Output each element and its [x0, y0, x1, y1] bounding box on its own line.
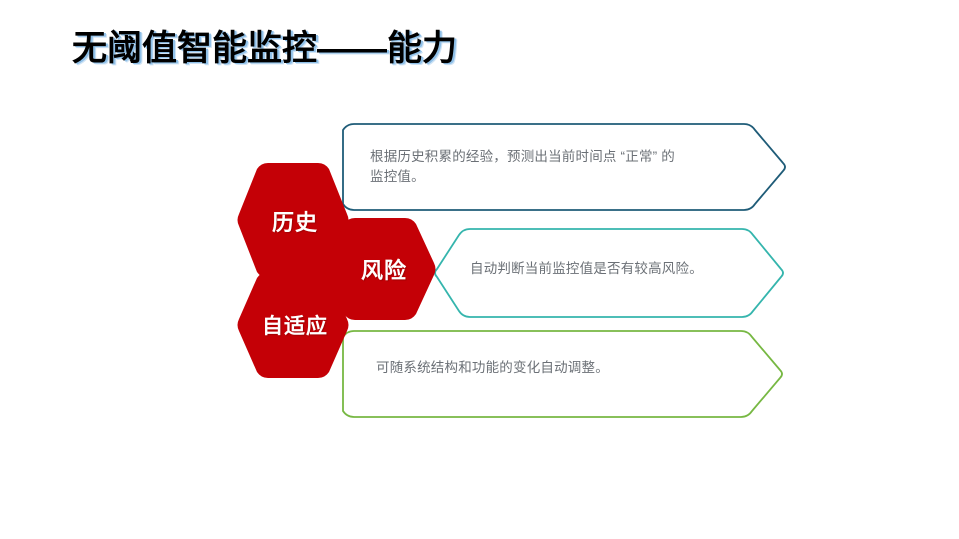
callout-risk[interactable]: 自动判断当前监控值是否有较高风险。 [432, 226, 789, 320]
slide-canvas: 无阈值智能监控——能力 根据历史积累的经验，预测出当前时间点 “正常” 的 监控… [0, 0, 959, 539]
capability-diagram: 根据历史积累的经验，预测出当前时间点 “正常” 的 监控值。 自动判断当前监控值… [0, 0, 959, 539]
hexagon-risk-shape [323, 216, 437, 322]
callout-history[interactable]: 根据历史积累的经验，预测出当前时间点 “正常” 的 监控值。 [340, 121, 792, 213]
callout-adaptive[interactable]: 可随系统结构和功能的变化自动调整。 [340, 328, 789, 420]
callout-risk-text: 自动判断当前监控值是否有较高风险。 [470, 259, 770, 279]
callout-adaptive-text: 可随系统结构和功能的变化自动调整。 [376, 358, 756, 378]
callout-history-text: 根据历史积累的经验，预测出当前时间点 “正常” 的 监控值。 [370, 147, 760, 187]
hexagon-risk[interactable]: 风险 [323, 216, 437, 322]
